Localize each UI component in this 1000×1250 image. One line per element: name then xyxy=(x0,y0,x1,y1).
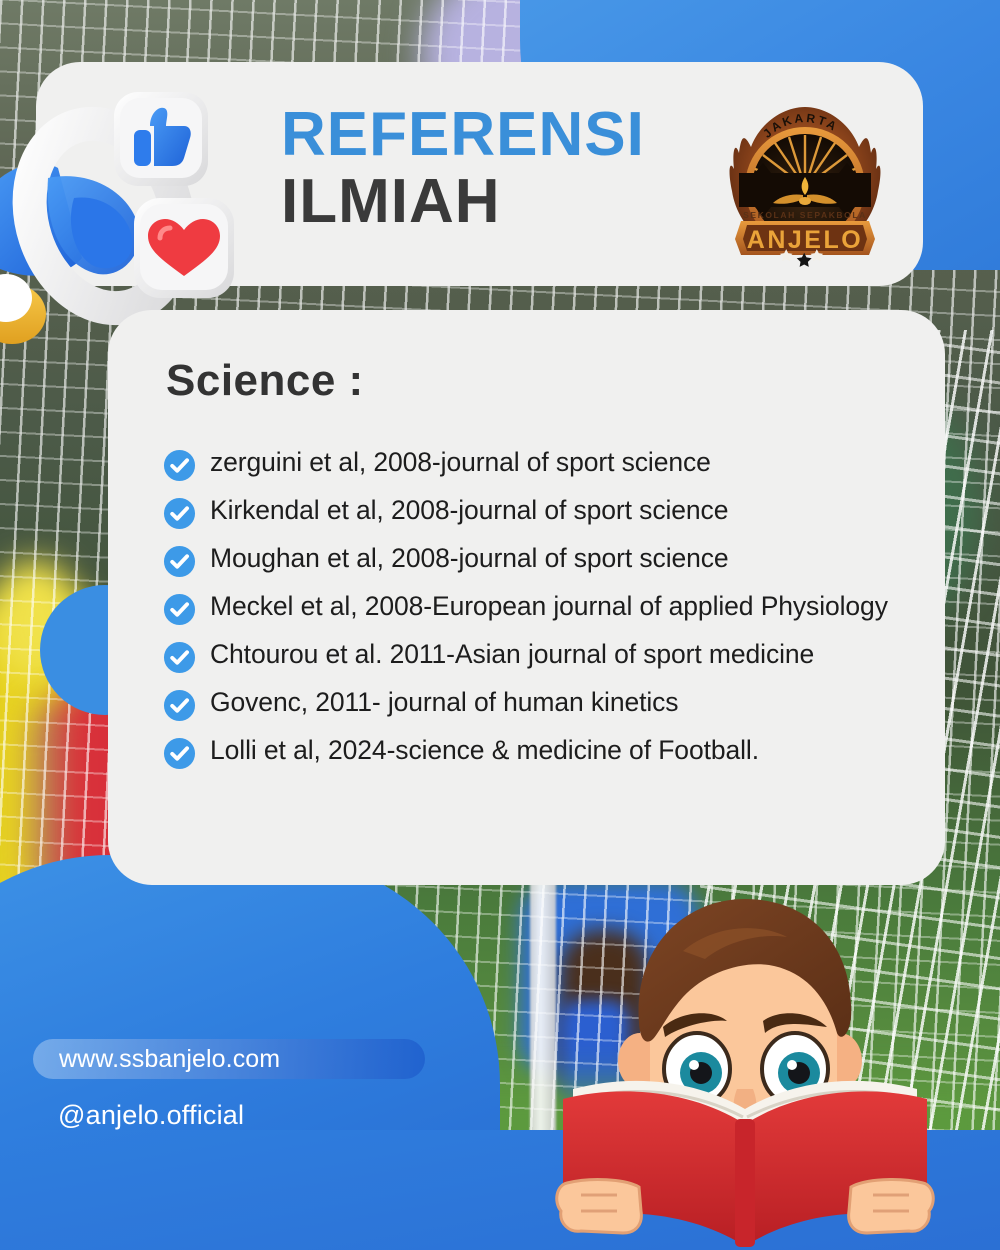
reference-text: Chtourou et al. 2011-Asian journal of sp… xyxy=(210,637,814,672)
reference-text: Lolli et al, 2024-science & medicine of … xyxy=(210,733,759,768)
reference-text: Moughan et al, 2008-journal of sport sci… xyxy=(210,541,729,576)
reference-item: Govenc, 2011- journal of human kinetics xyxy=(163,685,923,722)
logo-subtitle-text: SEKOLAH SEPAKBOLA xyxy=(743,210,867,220)
check-circle-icon xyxy=(163,497,196,530)
megaphone-icon xyxy=(0,48,256,348)
check-circle-icon xyxy=(163,737,196,770)
check-circle-icon xyxy=(163,641,196,674)
reference-item: Lolli et al, 2024-science & medicine of … xyxy=(163,733,923,770)
check-circle-icon xyxy=(163,449,196,482)
check-circle-icon xyxy=(163,497,196,530)
check-circle-icon xyxy=(163,689,196,722)
reference-text: zerguini et al, 2008-journal of sport sc… xyxy=(210,445,711,480)
check-circle-icon xyxy=(163,689,196,722)
megaphone-illustration xyxy=(0,48,256,348)
social-handle-text: @anjelo.official xyxy=(58,1100,244,1131)
check-circle-icon xyxy=(163,737,196,770)
reference-text: Meckel et al, 2008-European journal of a… xyxy=(210,589,888,624)
title-line-ilmiah: ILMIAH xyxy=(281,170,645,233)
boy-reading-book-icon xyxy=(555,893,975,1250)
reference-item: Chtourou et al. 2011-Asian journal of sp… xyxy=(163,637,923,674)
logo-name-text: ANJELO xyxy=(747,226,863,254)
anjelo-logo-svg: SEKOLAH SEPAKBOLA ANJELO JAKARTA xyxy=(725,103,885,268)
check-circle-icon xyxy=(163,449,196,482)
reference-item: Moughan et al, 2008-journal of sport sci… xyxy=(163,541,923,578)
check-circle-icon xyxy=(163,545,196,578)
title-line-referensi: REFERENSI xyxy=(281,105,645,166)
website-pill[interactable]: www.ssbanjelo.com xyxy=(33,1039,425,1079)
reference-text: Govenc, 2011- journal of human kinetics xyxy=(210,685,678,720)
check-circle-icon xyxy=(163,593,196,626)
anjelo-logo: SEKOLAH SEPAKBOLA ANJELO JAKARTA xyxy=(725,103,885,268)
poster-canvas: REFERENSI ILMIAH xyxy=(0,0,1000,1250)
check-circle-icon xyxy=(163,545,196,578)
reader-illustration xyxy=(555,893,975,1250)
reference-list: zerguini et al, 2008-journal of sport sc… xyxy=(163,445,923,781)
reference-item: Meckel et al, 2008-European journal of a… xyxy=(163,589,923,626)
check-circle-icon xyxy=(163,593,196,626)
page-title: REFERENSI ILMIAH xyxy=(281,105,645,233)
reference-item: zerguini et al, 2008-journal of sport sc… xyxy=(163,445,923,482)
reference-item: Kirkendal et al, 2008-journal of sport s… xyxy=(163,493,923,530)
reference-text: Kirkendal et al, 2008-journal of sport s… xyxy=(210,493,728,528)
section-title: Science : xyxy=(166,356,364,406)
check-circle-icon xyxy=(163,641,196,674)
website-text: www.ssbanjelo.com xyxy=(33,1045,280,1074)
